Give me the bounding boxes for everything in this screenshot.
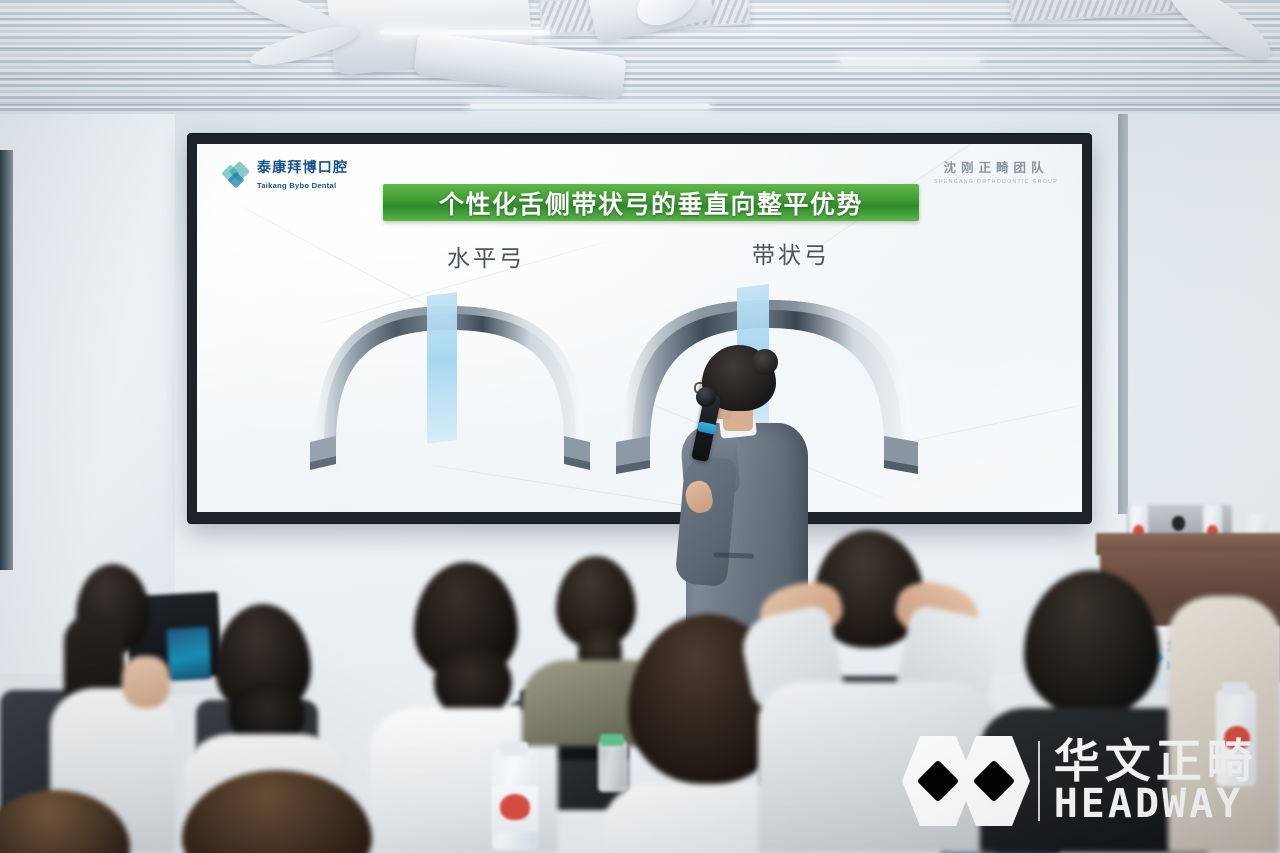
- audience-member: [182, 770, 372, 853]
- presentation-display[interactable]: 泰康拜博口腔 Taikang Bybo Dental 沈刚正畸团队 SHENGA…: [188, 134, 1091, 523]
- bottle-cap: [500, 742, 528, 756]
- ventilation-duct: [413, 31, 627, 100]
- bottle-label-mark: [500, 794, 530, 820]
- apple-logo-icon: [1172, 516, 1185, 531]
- ceiling-fan-blade: [221, 0, 348, 47]
- shengang-logo-en: SHENGANG ORTHODONTIC GROUP: [934, 179, 1058, 185]
- water-bottle: [598, 740, 628, 792]
- bottle-cap: [1206, 499, 1219, 506]
- speaker-hair-bun: [752, 349, 778, 375]
- tube-light: [470, 104, 710, 109]
- ventilation-duct: [326, 0, 534, 76]
- ceiling-fan-blade: [247, 19, 361, 73]
- taikang-diamond-icon: [223, 163, 250, 190]
- horizontal-archwire-diagram: [302, 284, 602, 474]
- tube-light: [840, 58, 980, 63]
- slide-title-text: 个性化舌侧带状弓的垂直向整平优势: [439, 185, 863, 221]
- wall-corner-edge: [1118, 114, 1128, 514]
- vertical-plane-left: [427, 292, 457, 444]
- slide-canvas: 泰康拜博口腔 Taikang Bybo Dental 沈刚正畸团队 SHENGA…: [197, 144, 1082, 512]
- diagram-label-ribbon: 带状弓: [752, 236, 830, 270]
- audience-member-hands-behind-head: [752, 520, 1002, 853]
- shengang-group-logo: 沈刚正畸团队 SHENGANG ORTHODONTIC GROUP: [934, 157, 1058, 185]
- shengang-logo-cn: 沈刚正畸团队: [934, 157, 1058, 176]
- audience-member: [0, 790, 120, 853]
- ventilation-duct: [585, 0, 715, 44]
- slide-title-banner: 个性化舌侧带状弓的垂直向整平优势: [383, 184, 919, 221]
- bottle-label-mark: [1224, 726, 1250, 750]
- tube-light: [380, 30, 550, 35]
- right-wall-panel: [1125, 114, 1280, 534]
- bottle-cap: [1132, 499, 1145, 506]
- bottle-cap: [600, 734, 624, 746]
- ceiling-fan-blade: [629, 0, 704, 35]
- diagram-label-horizontal: 水平弓: [447, 239, 525, 273]
- speaker-arm: [675, 455, 738, 587]
- ac-grille-icon: [1009, 0, 1191, 24]
- taikang-logo-en: Taikang Bybo Dental: [257, 181, 336, 190]
- ceiling-fan-blade: [1160, 0, 1280, 70]
- taikang-logo-cn: 泰康拜博口腔: [257, 159, 348, 175]
- photo-scene: 泰康拜博口腔 Taikang Bybo Dental 沈刚正畸团队 SHENGA…: [0, 0, 1280, 853]
- door-frame-edge: [0, 150, 13, 570]
- bottle-cap: [1222, 682, 1248, 695]
- taikang-bybo-logo: 泰康拜博口腔 Taikang Bybo Dental: [223, 160, 348, 192]
- ceiling: [0, 0, 1280, 120]
- ac-grille-icon: [539, 0, 751, 35]
